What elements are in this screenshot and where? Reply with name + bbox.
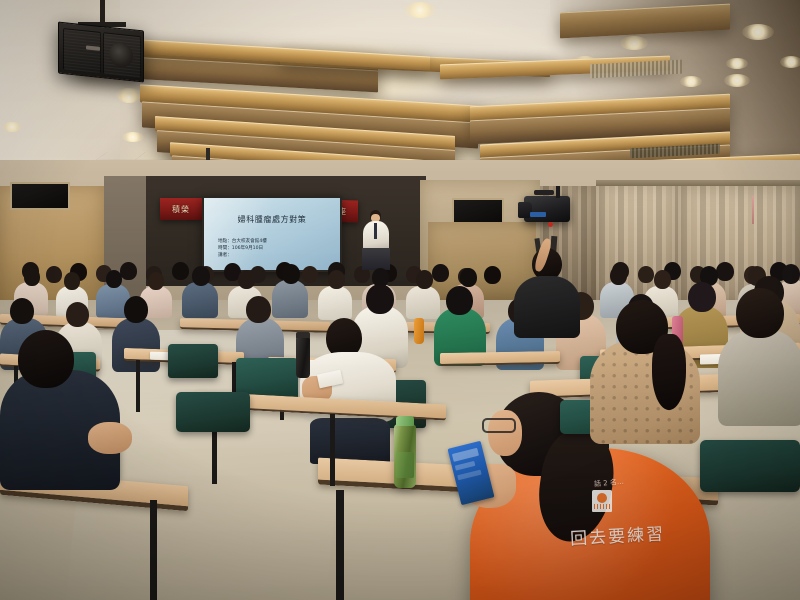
slide-line-speaker: 講者：	[218, 252, 267, 259]
slide-title: 婦科腫瘤處方對策	[204, 214, 340, 225]
bottle-label	[396, 452, 414, 478]
downlight	[726, 58, 748, 69]
audience-head	[24, 268, 40, 286]
desk	[440, 351, 560, 366]
desk-leg	[330, 414, 335, 486]
slide-line-location: 地點：台大校友會館4樓	[218, 238, 267, 245]
audience-head	[366, 284, 394, 314]
banner-left: 積榮	[160, 198, 202, 220]
logo-lines	[594, 504, 610, 509]
speaker-grill	[63, 28, 101, 74]
chair	[168, 344, 218, 378]
audience-head	[148, 272, 164, 290]
slide-line-time: 時間：106年9月10日	[218, 245, 267, 252]
audience-head	[10, 298, 34, 324]
audience-head	[124, 296, 148, 323]
audience-head	[302, 266, 318, 283]
glasses	[482, 418, 516, 433]
downlight	[620, 36, 648, 50]
tumbler-cap	[296, 332, 310, 338]
audience-head	[120, 262, 137, 280]
logo-inner	[597, 493, 607, 503]
chair-midground	[176, 392, 250, 432]
audience-head	[654, 270, 671, 289]
camera-rec-light	[548, 222, 553, 227]
lecture-hall-photo: 積榮 講座 婦科腫瘤處方對策 地點：台大校友會館4樓 時間：106年9月10日 …	[0, 0, 800, 600]
desk-leg	[136, 360, 140, 412]
audience-head	[484, 266, 501, 284]
audience-body	[272, 280, 308, 318]
phone-ui-row	[457, 470, 481, 481]
downlight	[2, 122, 22, 132]
audience-body	[318, 286, 352, 320]
projection-screen-frame: 婦科腫瘤處方對策 地點：台大校友會館4樓 時間：106年9月10日 講者：	[202, 196, 342, 272]
black-tumbler	[296, 336, 310, 378]
audience-head	[172, 262, 189, 280]
desk-leg	[336, 490, 344, 600]
audience-head	[716, 262, 734, 281]
camera-screen	[530, 212, 546, 217]
projection-screen: 婦科腫瘤處方對策 地點：台大校友會館4樓 時間：106年9月10日 講者：	[204, 198, 340, 270]
right-wall-window	[452, 198, 504, 224]
downlight	[122, 132, 144, 142]
slide-detail-lines: 地點：台大校友會館4樓 時間：106年9月10日 講者：	[218, 238, 267, 259]
desk-leg	[150, 500, 157, 600]
shirt-logo-graphic	[592, 490, 612, 512]
head	[736, 288, 784, 338]
audience-head	[460, 268, 477, 287]
audience-body	[406, 286, 440, 319]
audience-body	[182, 282, 218, 318]
camera-handle	[534, 190, 554, 195]
screen-glare	[204, 198, 293, 270]
audience-head	[192, 266, 210, 286]
audience-head	[246, 296, 271, 323]
camera-mic-mount	[556, 186, 560, 198]
phone-ui-row	[452, 448, 479, 462]
downlight	[724, 74, 750, 87]
shirt-main-text: 回去要練習	[569, 520, 665, 550]
banner-left-text: 積榮	[172, 204, 190, 215]
audience-head	[64, 272, 80, 290]
audience-head	[638, 266, 654, 283]
body	[718, 330, 800, 426]
ceiling-speaker	[58, 21, 144, 82]
downlight	[680, 76, 702, 87]
audience-head	[328, 270, 345, 289]
audience-head	[106, 270, 122, 288]
presenter-trousers	[362, 248, 390, 270]
audience-head	[610, 266, 627, 285]
audience-head	[688, 282, 716, 312]
phone-ui-row	[455, 461, 476, 471]
audience-head	[46, 266, 62, 283]
black-shirt	[514, 276, 580, 338]
audience-head	[238, 270, 255, 289]
face-profile	[488, 410, 522, 456]
ponytail	[652, 334, 686, 410]
left-wall-window	[10, 182, 70, 210]
bottle-cap	[396, 416, 414, 426]
head	[18, 330, 74, 388]
audience-head	[782, 264, 800, 284]
audience-head	[446, 286, 473, 315]
curtain-rail	[596, 180, 800, 186]
downlight	[742, 24, 774, 40]
orange-bottle	[414, 318, 424, 344]
audience-head	[432, 264, 449, 282]
downlight	[404, 2, 436, 18]
curtain-gap-light	[752, 196, 754, 224]
downlight	[780, 56, 800, 68]
downlight	[118, 92, 140, 103]
presenter-tie	[374, 223, 377, 239]
audience-head	[66, 302, 89, 327]
chair-foreground	[700, 440, 800, 492]
audience-head	[416, 270, 433, 289]
hand	[88, 422, 132, 454]
audience-head	[282, 264, 300, 284]
